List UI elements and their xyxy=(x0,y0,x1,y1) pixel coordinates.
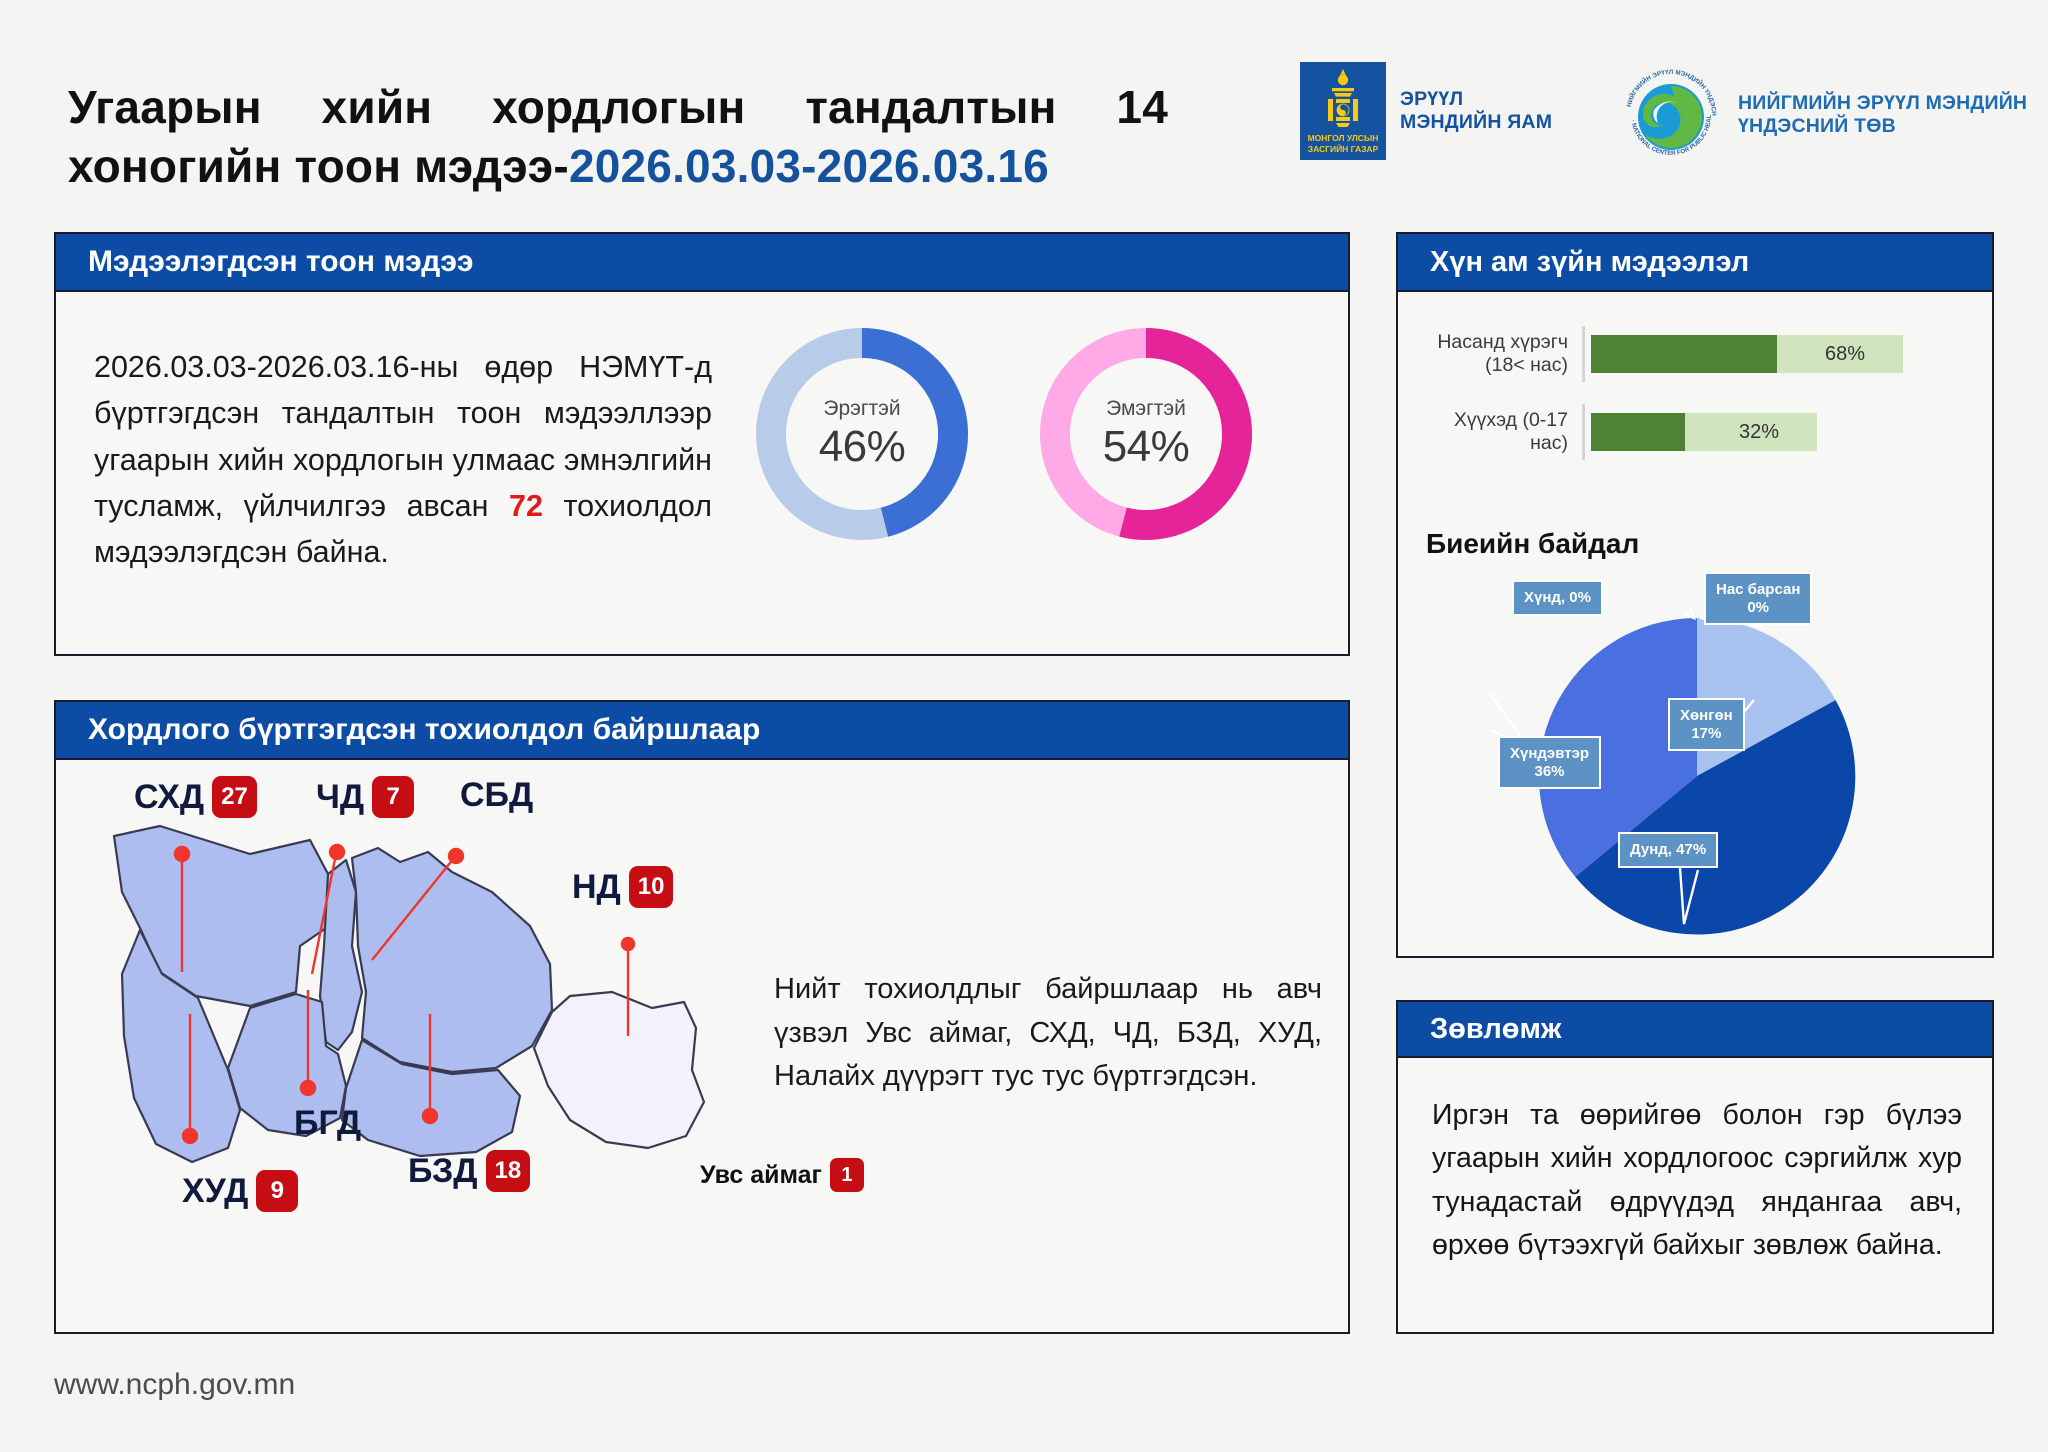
footer-url[interactable]: www.ncph.gov.mn xyxy=(54,1368,295,1402)
pin-name-uvs: Увс аймаг xyxy=(700,1161,822,1190)
female-donut-chart: Эмэгтэй 54% xyxy=(1040,328,1252,540)
title-line-2: хоногийн тоон мэдээ-2026.03.03-2026.03.1… xyxy=(68,137,1248,196)
pie-callout-dund: Дунд, 47% xyxy=(1618,832,1718,868)
ncph-name-line-2: ҮНДЭСНИЙ ТӨВ xyxy=(1738,115,2027,138)
female-donut-center: Эмэгтэй 54% xyxy=(1070,358,1222,510)
pin-label-bzd: БЗД 18 xyxy=(408,1150,530,1192)
map-summary-text: Нийт тохиолдлыг байршлаар нь авч үзвэл У… xyxy=(774,968,1322,1099)
pin-name-chd: ЧД xyxy=(316,778,364,817)
female-label: Эмэгтэй xyxy=(1106,397,1186,421)
mongolia-state-emblem: МОНГОЛ УЛСЫН ЗАСГИЙН ГАЗАР xyxy=(1300,62,1386,160)
ncph-swirl-icon: НИЙГМИЙН ЭРҮҮЛ МЭНДИЙН ҮНДЭСНИЙ ТӨВ · · … xyxy=(1618,62,1724,168)
condition-section-title: Биеийн байдал xyxy=(1426,528,1639,560)
condition-pie-chart: Хүнд, 0% Нас барсан 0% Хөнгөн 17% Хүндэв… xyxy=(1432,564,1962,944)
pin-label-chd: ЧД 7 xyxy=(316,776,414,818)
demographics-panel-body: Насанд хүрэгч (18< нас) 68% Хүүхэд (0-17… xyxy=(1398,292,1992,956)
female-percent: 54% xyxy=(1103,422,1190,472)
pin-count-uvs: 1 xyxy=(830,1158,864,1192)
pie-callout-khunyd: Хүнд, 0% xyxy=(1512,580,1603,616)
age-percent-adults: 68% xyxy=(1825,343,1903,366)
reported-figures-panel: Мэдээлэгдсэн тоон мэдээ 2026.03.03-2026.… xyxy=(54,232,1350,656)
demographics-panel-title: Хүн ам зүйн мэдээлэл xyxy=(1398,234,1992,292)
pin-name-sbd: СБД xyxy=(460,776,533,815)
title-line-1: Угаарын хийн хордлогын тандалтын 14 xyxy=(68,78,1168,137)
age-row-children: Хүүхэд (0-17 нас) 32% xyxy=(1416,404,1978,460)
age-bar-inner-adults xyxy=(1591,335,1777,373)
pin-dot-shd xyxy=(175,847,189,861)
pie-callout-khundevter-line-2: 36% xyxy=(1535,763,1565,780)
pie-callout-khongon: Хөнгөн 17% xyxy=(1668,698,1745,751)
pin-label-nd: НД 10 xyxy=(572,866,673,908)
age-label-adults-line-2: (18< нас) xyxy=(1416,354,1568,377)
age-bar-outer-children: 32% xyxy=(1591,413,1817,451)
ncph-name: НИЙГМИЙН ЭРҮҮЛ МЭНДИЙН ҮНДЭСНИЙ ТӨВ xyxy=(1738,92,2027,139)
reported-summary-text: 2026.03.03-2026.03.16-ны өдөр НЭМҮТ-д бү… xyxy=(94,344,712,576)
pin-count-nd: 10 xyxy=(629,866,674,908)
map-panel-body: СХД 27 ЧД 7 СБД НД 10 БГД БЗД 18 ХУД xyxy=(56,760,1348,1332)
pin-dot-bgd xyxy=(301,1081,315,1095)
pin-count-bzd: 18 xyxy=(486,1150,531,1192)
pin-name-bgd: БГД xyxy=(294,1104,361,1143)
map-panel-title: Хордлого бүртгэгдсэн тохиолдол байршлаар xyxy=(56,702,1348,760)
emblem-caption-line-1: МОНГОЛ УЛСЫН xyxy=(1308,133,1379,143)
pie-leader-khunyd xyxy=(1684,608,1694,618)
infographic-page: Угаарын хийн хордлогын тандалтын 14 хоно… xyxy=(0,0,2048,1452)
page-header: Угаарын хийн хордлогын тандалтын 14 хоно… xyxy=(0,0,2048,210)
advice-panel-body: Иргэн та өөрийгөө болон гэр бүлээ угаары… xyxy=(1398,1058,1992,1334)
pin-count-chd: 7 xyxy=(372,776,414,818)
pie-callout-khundevter: Хүндэвтэр 36% xyxy=(1498,736,1601,789)
age-label-children: Хүүхэд (0-17 нас) xyxy=(1416,409,1582,455)
ncph-logo: НИЙГМИЙН ЭРҮҮЛ МЭНДИЙН ҮНДЭСНИЙ ТӨВ · · … xyxy=(1618,62,2027,168)
case-count-highlight: 72 xyxy=(509,489,543,523)
advice-text: Иргэн та өөрийгөө болон гэр бүлээ угаары… xyxy=(1432,1094,1962,1267)
reported-panel-body: 2026.03.03-2026.03.16-ны өдөр НЭМҮТ-д бү… xyxy=(56,292,1348,654)
gender-donut-charts: Эрэгтэй 46% Эмэгтэй 54% xyxy=(756,328,1252,540)
case-location-panel: Хордлого бүртгэгдсэн тохиолдол байршлаар xyxy=(54,700,1350,1334)
pin-count-shd: 27 xyxy=(212,776,257,818)
reported-panel-title: Мэдээлэгдсэн тоон мэдээ xyxy=(56,234,1348,292)
page-title: Угаарын хийн хордлогын тандалтын 14 хоно… xyxy=(68,78,1248,196)
pin-label-sbd: СБД xyxy=(460,776,533,815)
ministry-name-line-2: МЭНДИЙН ЯАМ xyxy=(1400,111,1552,134)
advice-panel: Зөвлөмж Иргэн та өөрийгөө болон гэр бүлэ… xyxy=(1396,1000,1994,1334)
pin-dot-nd xyxy=(622,938,634,950)
district-shape-sbd xyxy=(352,848,552,1072)
age-track-children: 32% xyxy=(1582,404,1978,460)
pin-name-khud: ХУД xyxy=(182,1172,248,1211)
pin-label-uvs: Увс аймаг 1 xyxy=(700,1158,864,1192)
age-track-adults: 68% xyxy=(1582,326,1978,382)
male-percent: 46% xyxy=(819,422,906,472)
ministry-of-health-logo: МОНГОЛ УЛСЫН ЗАСГИЙН ГАЗАР ЭРҮҮЛ МЭНДИЙН… xyxy=(1300,62,1552,160)
pie-callout-khundevter-line-1: Хүндэвтэр xyxy=(1510,745,1589,762)
ministry-name: ЭРҮҮЛ МЭНДИЙН ЯАМ xyxy=(1400,88,1552,135)
pin-dot-bzd xyxy=(423,1109,437,1123)
pin-dot-chd xyxy=(330,845,344,859)
pie-callout-nas-barsan-line-2: 0% xyxy=(1747,599,1769,616)
age-label-adults: Насанд хүрэгч (18< нас) xyxy=(1416,331,1582,377)
pin-name-shd: СХД xyxy=(134,778,204,817)
pin-label-bgd: БГД xyxy=(294,1104,361,1143)
pin-dot-sbd xyxy=(449,849,463,863)
pin-dot-khud xyxy=(183,1129,197,1143)
emblem-caption: МОНГОЛ УЛСЫН ЗАСГИЙН ГАЗАР xyxy=(1308,133,1379,154)
age-row-adults: Насанд хүрэгч (18< нас) 68% xyxy=(1416,326,1978,382)
ministry-name-line-1: ЭРҮҮЛ xyxy=(1400,88,1552,111)
soyombo-icon xyxy=(1315,67,1371,131)
pin-label-khud: ХУД 9 xyxy=(182,1170,298,1212)
ncph-name-line-1: НИЙГМИЙН ЭРҮҮЛ МЭНДИЙН xyxy=(1738,92,2027,115)
emblem-caption-line-2: ЗАСГИЙН ГАЗАР xyxy=(1308,144,1378,154)
pie-callout-khongon-line-1: Хөнгөн xyxy=(1680,707,1733,724)
title-date-range: 2026.03.03-2026.03.16 xyxy=(569,140,1049,192)
male-donut-center: Эрэгтэй 46% xyxy=(786,358,938,510)
district-shape-nd xyxy=(534,992,704,1148)
pie-callout-nas-barsan: Нас барсан 0% xyxy=(1704,572,1812,625)
pin-label-shd: СХД 27 xyxy=(134,776,257,818)
age-bar-inner-children xyxy=(1591,413,1685,451)
pie-callout-khongon-line-2: 17% xyxy=(1691,725,1721,742)
demographics-panel: Хүн ам зүйн мэдээлэл Насанд хүрэгч (18< … xyxy=(1396,232,1994,958)
age-label-children-line-1: Хүүхэд (0-17 нас) xyxy=(1416,409,1568,455)
age-bar-outer-adults: 68% xyxy=(1591,335,1903,373)
pin-name-nd: НД xyxy=(572,868,621,907)
age-row-gap xyxy=(1416,382,1978,404)
male-donut-chart: Эрэгтэй 46% xyxy=(756,328,968,540)
advice-panel-title: Зөвлөмж xyxy=(1398,1002,1992,1058)
male-label: Эрэгтэй xyxy=(823,397,900,421)
age-label-adults-line-1: Насанд хүрэгч xyxy=(1416,331,1568,354)
title-line-2-plain: хоногийн тоон мэдээ- xyxy=(68,140,569,192)
pin-name-bzd: БЗД xyxy=(408,1152,478,1191)
age-percent-children: 32% xyxy=(1739,421,1817,444)
age-group-bar-chart: Насанд хүрэгч (18< нас) 68% Хүүхэд (0-17… xyxy=(1416,326,1978,460)
pin-count-khud: 9 xyxy=(256,1170,298,1212)
pie-callout-nas-barsan-line-1: Нас барсан xyxy=(1716,581,1800,598)
